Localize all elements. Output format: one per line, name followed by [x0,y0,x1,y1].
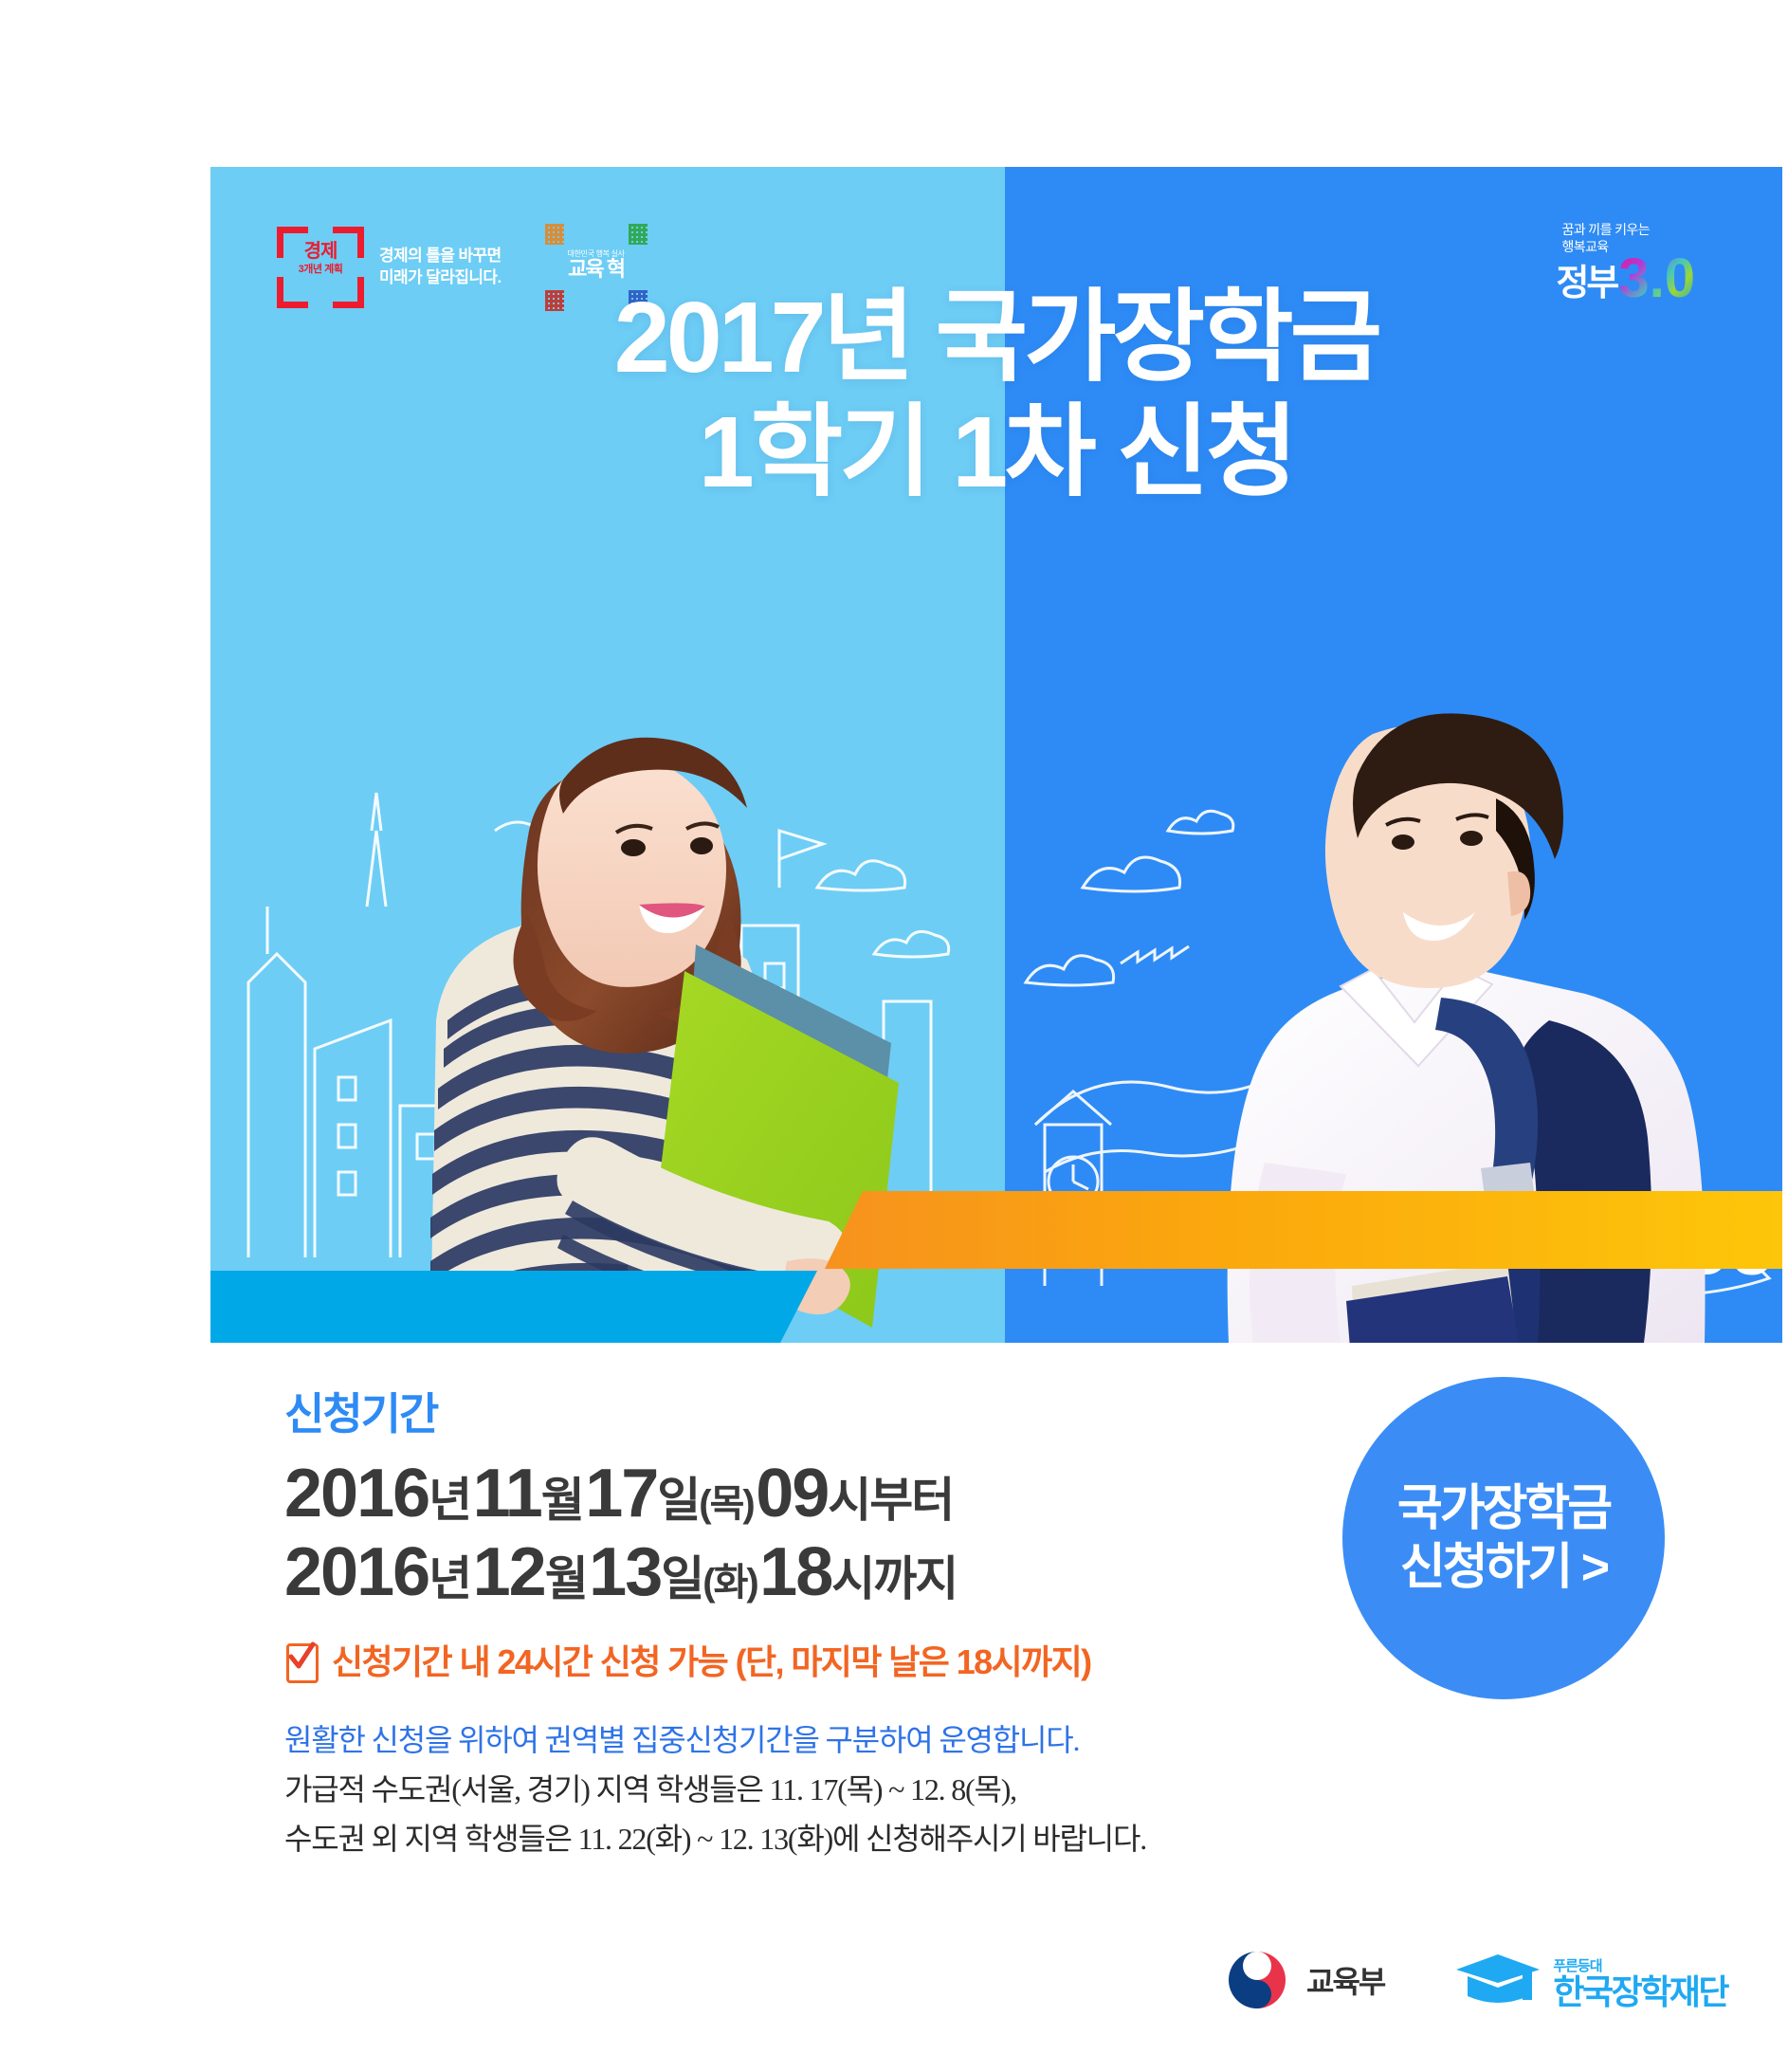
poster-title: 2017년 국가장학금 1학기 1차 신청 [210,281,1782,510]
econ-mark-line1: 경제 [304,241,338,262]
application-period-section: 신청기간 2016년 11월 17일(목) 09시부터 2016년 12월 13… [284,1380,1289,1864]
availability-note: 신청기간 내 24시간 신청 가능 (단, 마지막 날은 18시까지) [284,1635,1289,1684]
gov-sub-line1: 꿈과 끼를 키우는 [1561,222,1695,239]
kosaf-sub-name: 푸른등대 [1553,1959,1727,1973]
end-hour-unit: 시까지 [831,1552,957,1605]
end-day-unit: 일 [661,1552,702,1605]
hero-cyan-band [210,1271,817,1343]
hero-orange-band [825,1191,1782,1269]
regional-guidance-paragraph: 원활한 신청을 위하여 권역별 집중신청기간을 구분하여 운영합니다. 가급적 … [284,1716,1289,1863]
availability-note-text: 신청기간 내 24시간 신청 가능 (단, 마지막 날은 18시까지) [332,1635,1090,1684]
guidance-line-1: 원활한 신청을 위하여 권역별 집중신청기간을 구분하여 운영합니다. [284,1716,1289,1766]
econ-tagline-line1: 경제의 틀을 바꾸면 [379,246,502,267]
poster-title-line1: 2017년 국가장학금 [210,281,1782,395]
end-year-unit: 년 [429,1552,470,1605]
ministry-of-education-logo: 교육부 [1223,1946,1384,2014]
ministry-of-education-name: 교육부 [1306,1958,1384,2002]
start-weekday: (목) [699,1483,753,1525]
start-year-unit: 년 [429,1474,470,1527]
footer-logos: 교육부 푸른등대 한국장학재단 [1223,1946,1727,2014]
application-end-date: 2016년 12월 13일(화) 18시까지 [284,1534,1289,1611]
start-day-unit: 일 [657,1474,699,1527]
start-month: 11 [473,1456,541,1531]
start-year: 2016 [284,1456,429,1531]
application-period-heading: 신청기간 [284,1380,1289,1442]
edu-logo-square-orange-icon [545,224,564,245]
start-hour-unit: 시부터 [828,1474,953,1527]
start-day: 17 [585,1456,657,1531]
hero-banner: EDU 경제 3개년 계획 경제의 틀을 바꾸면 미래가 달라집니다. [210,167,1782,1343]
guidance-line-2: 가급적 수도권(서울, 경기) 지역 학생들은 11. 17(목) ~ 12. … [284,1766,1289,1815]
application-start-date: 2016년 11월 17일(목) 09시부터 [284,1456,1289,1532]
cta-line-2: 신청하기 > [1400,1541,1607,1594]
taegeuk-icon [1223,1946,1291,2014]
apply-scholarship-button[interactable]: 국가장학금 신청하기 > [1342,1377,1665,1699]
cta-line-1: 국가장학금 [1397,1482,1610,1535]
start-month-unit: 월 [541,1474,583,1527]
edu-reform-wordmark: 교육 혁 [545,258,648,280]
end-month: 12 [473,1534,545,1610]
start-hour: 09 [756,1456,828,1531]
guidance-line-3: 수도권 외 지역 학생들은 11. 22(화) ~ 12. 13(화)에 신청해… [284,1815,1289,1864]
poster-title-line2: 1학기 1차 신청 [210,395,1782,510]
kosaf-text: 푸른등대 한국장학재단 [1553,1959,1727,2009]
graduation-cap-icon [1452,1951,1543,2009]
end-year: 2016 [284,1534,429,1610]
kosaf-main-name: 한국장학재단 [1553,1975,1727,2009]
kosaf-logo: 푸른등대 한국장학재단 [1452,1951,1727,2009]
end-weekday: (화) [702,1562,757,1604]
checkbox-check-icon [284,1640,317,1679]
end-month-unit: 월 [545,1552,587,1605]
econ-mark-plan: 3개년 계획 [299,264,343,275]
end-day: 13 [589,1534,661,1610]
end-hour: 18 [759,1534,831,1610]
poster-root: EDU 경제 3개년 계획 경제의 틀을 바꾸면 미래가 달라집니다. [0,0,1788,2072]
edu-logo-square-green-icon [629,224,648,245]
